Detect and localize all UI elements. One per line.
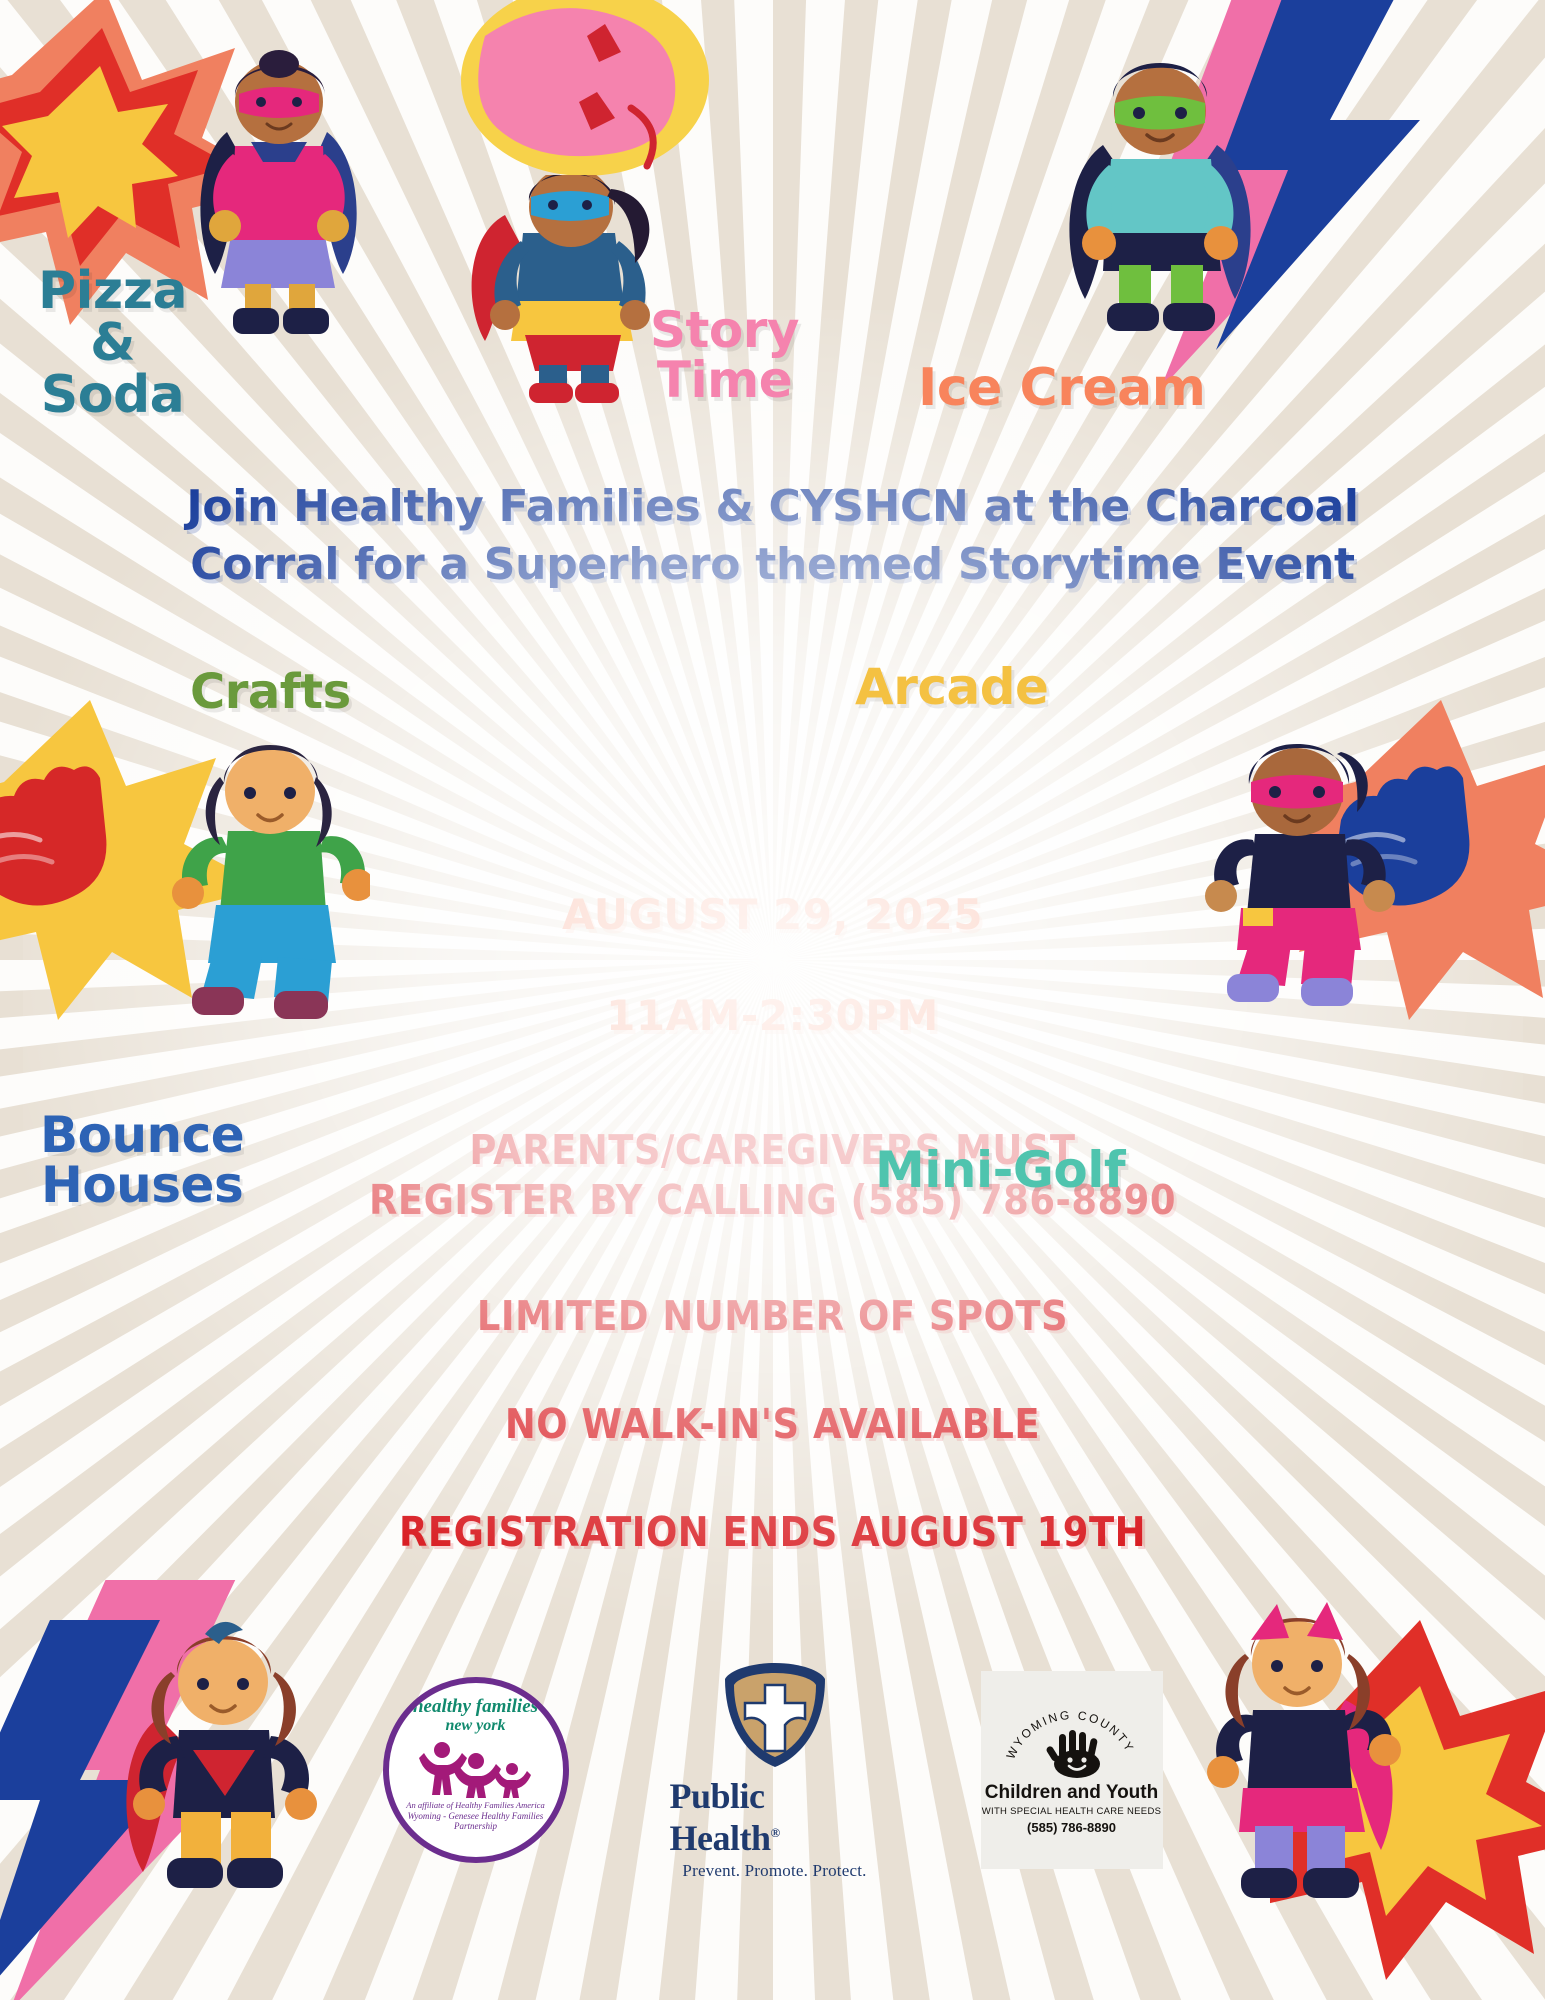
- event-date: AUGUST 29, 2025: [323, 890, 1223, 939]
- registration-line-1: PARENTS/CAREGIVERS MUST: [223, 1125, 1323, 1175]
- registration-info-block: PARENTS/CAREGIVERS MUST REGISTER BY CALL…: [223, 1125, 1323, 1557]
- public-health-shield-icon: [721, 1659, 829, 1771]
- hfny-line2: new york: [446, 1717, 506, 1735]
- registration-limited-spots: LIMITED NUMBER OF SPOTS: [223, 1291, 1323, 1341]
- activity-label-mini-golf: Mini-Golf: [875, 1145, 1125, 1195]
- event-flyer: Pizza & Soda Story Time Ice Cream Crafts…: [0, 0, 1545, 2000]
- public-health-word-text: Public Health: [670, 1776, 771, 1858]
- registration-deadline: REGISTRATION ENDS AUGUST 19TH: [223, 1507, 1323, 1557]
- event-datetime-block: AUGUST 29, 2025 11AM-2:30PM: [323, 890, 1223, 1040]
- event-time: 11AM-2:30PM: [323, 991, 1223, 1040]
- public-health-wordmark: Public Health®: [670, 1775, 880, 1859]
- logo-public-health: Public Health® Prevent. Promote. Protect…: [670, 1659, 880, 1881]
- registered-trademark-icon: ®: [771, 1825, 780, 1840]
- hfny-line1: healthy families: [413, 1697, 538, 1716]
- registration-phone-line: REGISTER BY CALLING (585) 786-8890: [223, 1175, 1323, 1225]
- activity-label-ice-cream: Ice Cream: [918, 362, 1205, 414]
- wyoming-county-subtitle: WITH SPECIAL HEALTH CARE NEEDS: [982, 1806, 1162, 1817]
- event-headline: Join Healthy Families & CYSHCN at the Ch…: [183, 478, 1363, 594]
- wyoming-county-handprint-icon: WYOMING COUNTY: [997, 1706, 1147, 1778]
- logo-wyoming-county-cyshcn: WYOMING COUNTY Children and Youth: [981, 1671, 1163, 1869]
- wyoming-county-title: Children and Youth: [985, 1782, 1158, 1804]
- sponsor-logos: healthy families new york A: [383, 1660, 1163, 1880]
- logo-healthy-families-new-york: healthy families new york A: [383, 1677, 569, 1863]
- activity-label-arcade: Arcade: [855, 662, 1048, 712]
- hfny-affiliate: An affiliate of Healthy Families America: [406, 1800, 544, 1810]
- wyoming-county-phone: (585) 786-8890: [1027, 1820, 1116, 1835]
- hfny-partnership: Wyoming - Genesee Healthy Families Partn…: [389, 1811, 563, 1832]
- activity-label-bounce-houses: Bounce Houses: [40, 1110, 244, 1210]
- activity-label-story-time: Story Time: [650, 305, 799, 405]
- public-health-tagline: Prevent. Promote. Protect.: [682, 1861, 866, 1881]
- activity-label-pizza-soda: Pizza & Soda: [38, 265, 187, 421]
- activity-label-crafts: Crafts: [190, 668, 351, 716]
- registration-no-walkins: NO WALK-IN'S AVAILABLE: [223, 1399, 1323, 1449]
- family-figures-icon: [416, 1737, 536, 1799]
